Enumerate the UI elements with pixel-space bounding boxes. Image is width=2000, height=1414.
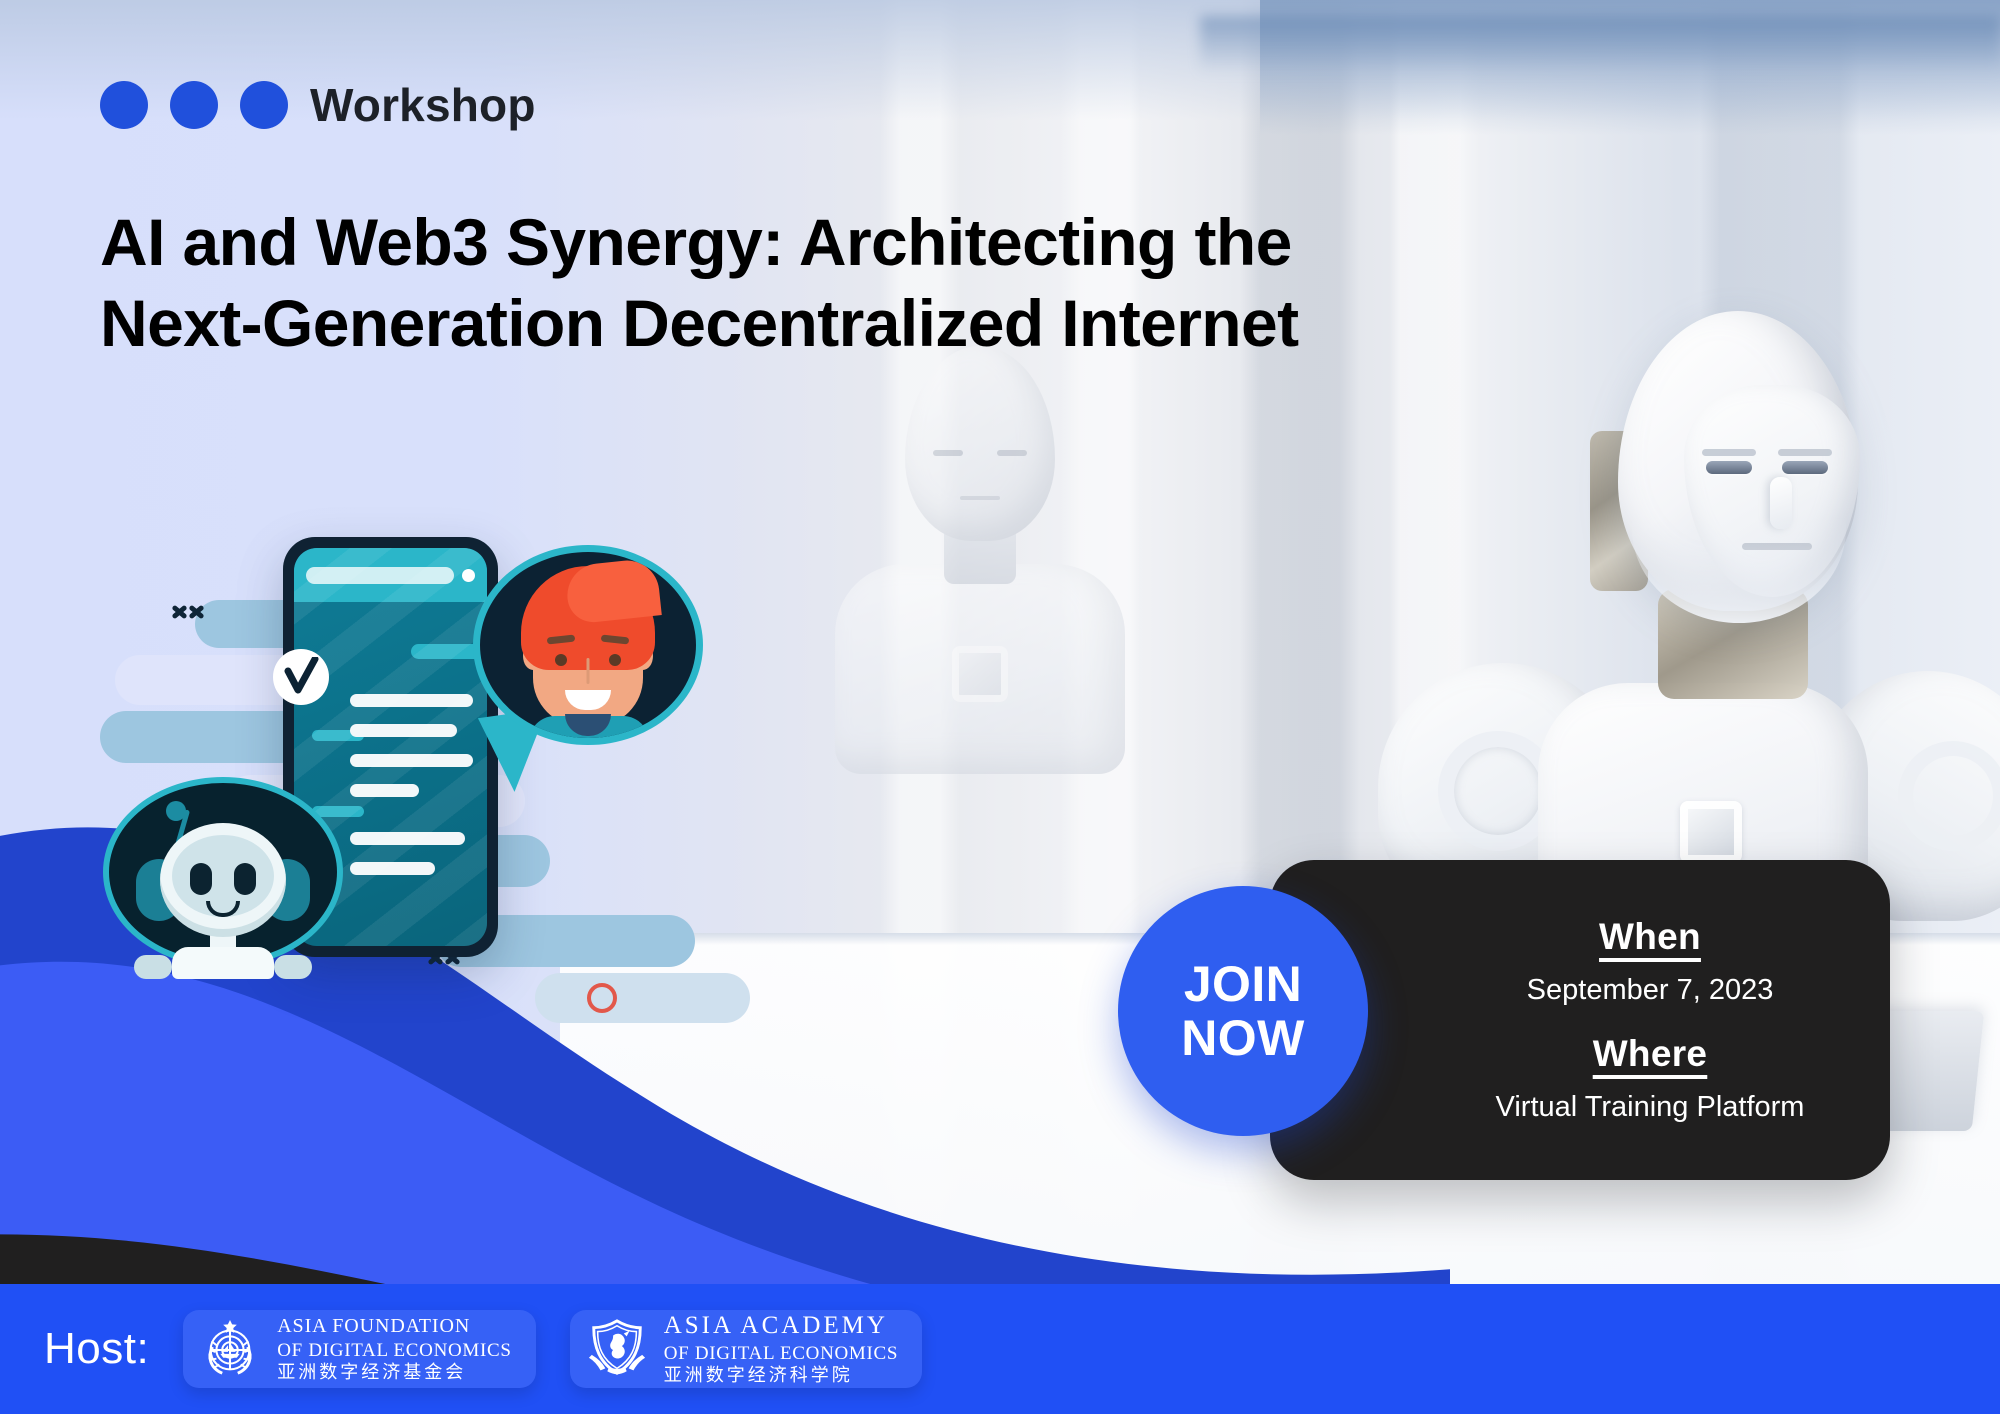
when-label: When xyxy=(1450,916,1850,958)
host-logo-asia-academy[interactable]: ASIA ACADEMY OF DIGITAL ECONOMICS 亚洲数字经济… xyxy=(570,1310,923,1388)
checkmark-badge-icon xyxy=(273,649,329,705)
three-dots-icon xyxy=(100,81,288,129)
tagline-text: Workshop xyxy=(310,78,536,132)
host-logo-en-line1: ASIA FOUNDATION xyxy=(277,1315,470,1337)
join-now-line1: JOIN xyxy=(1184,957,1302,1011)
shield-lion-crest-emblem-icon xyxy=(586,1318,648,1380)
page-title: AI and Web3 Synergy: Architecting the Ne… xyxy=(100,202,1400,363)
circle-outline-red-icon xyxy=(587,983,617,1013)
footer-host-bar: Host: ASIA FOUNDATION OF DIGIT xyxy=(0,1284,2000,1414)
host-logo-asia-foundation[interactable]: ASIA FOUNDATION OF DIGITAL ECONOMICS 亚洲数… xyxy=(183,1310,536,1388)
host-logo-en-line1: ASIA ACADEMY xyxy=(664,1312,888,1339)
host-logo-text: ASIA ACADEMY OF DIGITAL ECONOMICS 亚洲数字经济… xyxy=(664,1311,899,1387)
when-value: September 7, 2023 xyxy=(1450,974,1850,1007)
when-block: When September 7, 2023 xyxy=(1450,916,1850,1007)
host-logo-en-line2: OF DIGITAL ECONOMICS xyxy=(664,1343,899,1364)
person-avatar-icon xyxy=(473,545,703,745)
host-logo-cn: 亚洲数字经济基金会 xyxy=(277,1362,466,1383)
tagline-row: Workshop xyxy=(100,78,1400,132)
host-label: Host: xyxy=(44,1324,149,1374)
host-logo-cn: 亚洲数字经济科学院 xyxy=(664,1365,853,1386)
chat-illustration xyxy=(105,585,865,1175)
poster-header: Workshop AI and Web3 Synergy: Architecti… xyxy=(100,78,1400,363)
background-blur-strip xyxy=(1200,16,2000,72)
chatbot-mascot-icon xyxy=(103,777,343,967)
event-poster: Workshop AI and Web3 Synergy: Architecti… xyxy=(0,0,2000,1414)
where-block: Where Virtual Training Platform xyxy=(1450,1033,1850,1124)
join-now-button[interactable]: JOIN NOW xyxy=(1118,886,1368,1136)
host-logo-text: ASIA FOUNDATION OF DIGITAL ECONOMICS 亚洲数… xyxy=(277,1314,512,1384)
where-label: Where xyxy=(1450,1033,1850,1075)
join-now-line2: NOW xyxy=(1181,1011,1304,1065)
sparkle-icon xyxy=(167,591,209,633)
where-value: Virtual Training Platform xyxy=(1450,1091,1850,1124)
host-logo-en-line2: OF DIGITAL ECONOMICS xyxy=(277,1340,512,1361)
wreath-globe-sailboat-emblem-icon xyxy=(199,1318,261,1380)
